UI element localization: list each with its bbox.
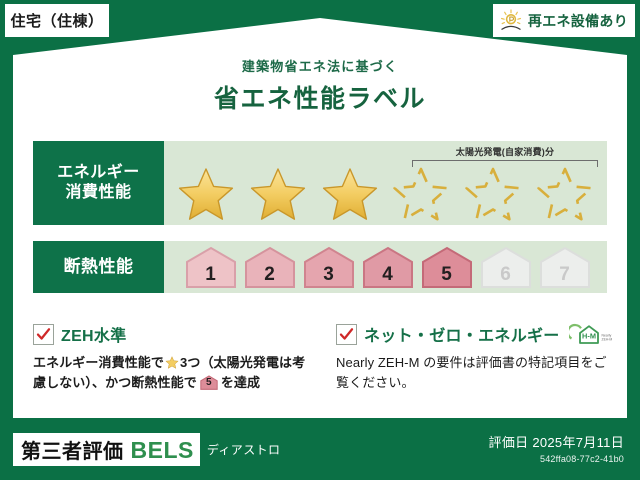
title-main: 省エネ性能ラベル <box>0 79 640 115</box>
nzeb-heading: ネット・ゼロ・エネルギー H-M Nearly ZEH-M <box>336 322 612 346</box>
check-icon <box>36 327 51 342</box>
sun-renewable-icon <box>498 9 524 33</box>
insulation-badge-value: 1 <box>183 264 239 286</box>
star-icon-filled <box>249 166 307 222</box>
insulation-badge: 2 <box>242 245 298 289</box>
energy-performance-label-box: エネルギー 消費性能 <box>33 141 164 225</box>
zeh-m-logo-icon: H-M Nearly ZEH-M <box>567 323 613 345</box>
zeh-title: ZEH水準 <box>61 322 127 346</box>
zeh-standard-block: ZEH水準 エネルギー消費性能で3つ（太陽光発電は考慮しない）、かつ断熱性能で5… <box>33 322 309 393</box>
zeh-m-logo-text: H-M <box>582 332 596 341</box>
insulation-badge: 3 <box>301 245 357 289</box>
checkbox-checked <box>336 324 357 345</box>
checkbox-checked <box>33 324 54 345</box>
energy-rating-area: 太陽光発電(自家消費)分 <box>164 141 607 225</box>
star-icon-filled <box>177 166 235 222</box>
star-icon-filled <box>321 166 379 222</box>
inline-badge-value: 5 <box>199 375 219 391</box>
insulation-badge: 4 <box>360 245 416 289</box>
insulation-label: 断熱性能 <box>64 256 134 277</box>
renewable-badge-label: 再エネ設備あり <box>528 11 628 31</box>
check-icon <box>339 327 354 342</box>
insulation-badge-value: 6 <box>478 264 534 286</box>
inline-star-icon <box>165 356 179 369</box>
zeh-description: エネルギー消費性能で3つ（太陽光発電は考慮しない）、かつ断熱性能で5を達成 <box>33 353 309 393</box>
insulation-badge-inactive: 7 <box>537 245 593 289</box>
net-zero-energy-block: ネット・ゼロ・エネルギー H-M Nearly ZEH-M Nearly ZEH… <box>336 322 612 393</box>
star-icon-outline <box>536 166 594 222</box>
bels-logo-box: 第三者評価 BELS <box>13 433 200 466</box>
star-icon-outline <box>392 166 450 222</box>
nzeb-title: ネット・ゼロ・エネルギー <box>364 322 560 346</box>
star-icon-outline <box>464 166 522 222</box>
evaluation-date: 評価日 2025年7月11日 <box>489 432 624 451</box>
evaluation-id: 542ffa08-77c2-41b0 <box>489 454 624 464</box>
label-title-block: 建築物省エネ法に基づく 省エネ性能ラベル <box>0 56 640 115</box>
bels-owner-name: ディアストロ <box>207 441 281 458</box>
inline-insulation-badge: 5 <box>199 375 219 390</box>
building-type-tag: 住宅（住棟） <box>5 4 109 37</box>
bels-en-label: BELS <box>131 437 194 464</box>
bels-jp-label: 第三者評価 <box>21 435 124 464</box>
evaluation-footer: 評価日 2025年7月11日 542ffa08-77c2-41b0 <box>489 432 624 464</box>
title-subtitle: 建築物省エネ法に基づく <box>0 56 640 75</box>
svg-text:ZEH-M: ZEH-M <box>601 337 612 341</box>
energy-label-line2: 消費性能 <box>65 183 131 203</box>
insulation-badge-value: 7 <box>537 264 593 286</box>
insulation-badge-value: 4 <box>360 264 416 286</box>
renewable-equipment-badge: 再エネ設備あり <box>493 4 635 37</box>
zeh-text-part1: エネルギー消費性能で <box>33 355 164 370</box>
insulation-badge: 1 <box>183 245 239 289</box>
energy-performance-row: エネルギー 消費性能 太陽光発電(自家消費)分 <box>33 141 607 225</box>
energy-label-line1: エネルギー <box>57 163 140 183</box>
insulation-rating-area: 1 2 3 4 5 <box>164 241 607 293</box>
building-type-label: 住宅（住棟） <box>10 10 103 31</box>
insulation-badge-inactive: 6 <box>478 245 534 289</box>
solar-annotation-label: 太陽光発電(自家消費)分 <box>410 145 600 158</box>
zeh-text-part3: を達成 <box>221 375 260 390</box>
insulation-badge-value: 5 <box>419 264 475 286</box>
zeh-heading: ZEH水準 <box>33 322 309 346</box>
star-rating-group <box>164 165 607 223</box>
insulation-performance-label-box: 断熱性能 <box>33 241 164 293</box>
insulation-badge-group: 1 2 3 4 5 <box>164 241 607 293</box>
insulation-badge-value: 3 <box>301 264 357 286</box>
insulation-performance-row: 断熱性能 1 2 3 4 <box>33 241 607 293</box>
nzeb-description: Nearly ZEH-M の要件は評価書の特記項目をご覧ください。 <box>336 353 612 393</box>
bels-footer: 第三者評価 BELS ディアストロ <box>13 433 280 466</box>
insulation-badge-value: 2 <box>242 264 298 286</box>
energy-performance-label: 住宅（住棟） 再エネ設備あり 建築物省エネ法に基づく <box>0 0 640 480</box>
insulation-badge-achieved: 5 <box>419 245 475 289</box>
